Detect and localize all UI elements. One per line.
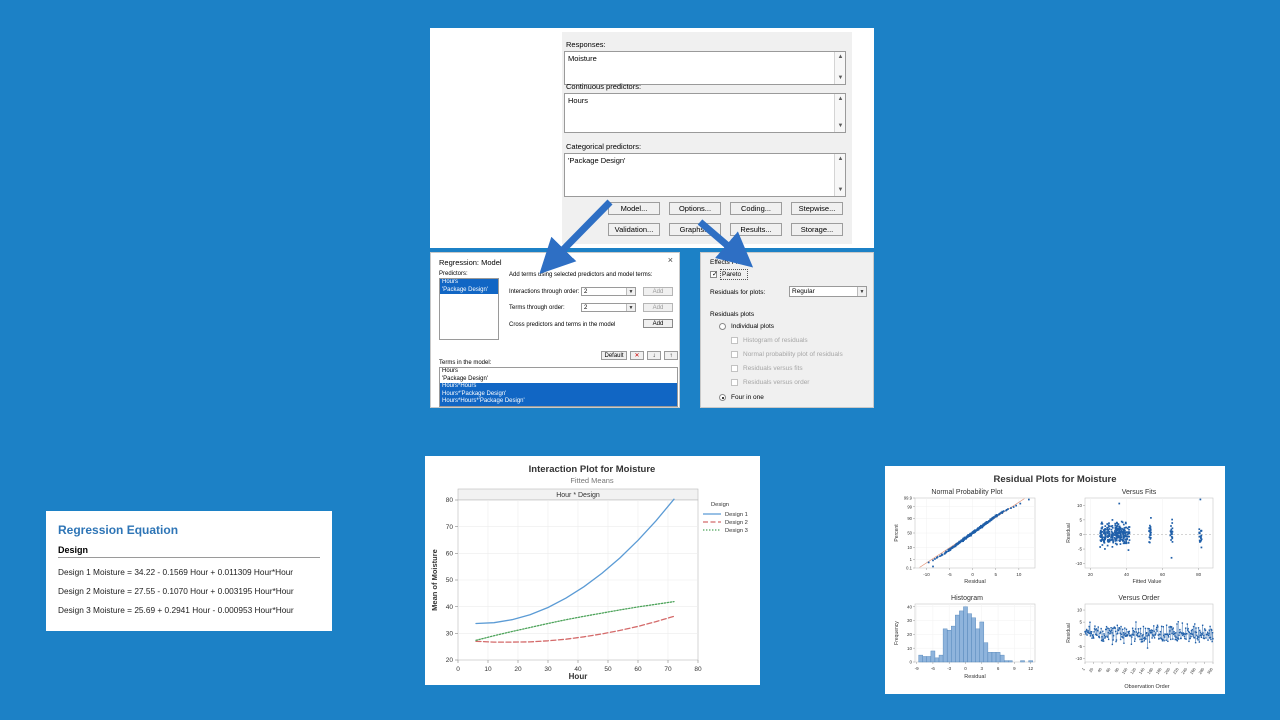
svg-text:-10: -10 [923, 572, 930, 577]
svg-text:1: 1 [910, 557, 913, 562]
chevron-down-icon[interactable]: ▼ [626, 288, 635, 295]
svg-text:99: 99 [907, 504, 912, 509]
residual-plots-svg: Residual Plots for Moisture Normal Proba… [885, 466, 1225, 694]
add-terms-instruction: Add terms using selected predictors and … [509, 272, 652, 278]
svg-text:60: 60 [446, 551, 454, 558]
list-item[interactable]: Hours*Hours [440, 383, 677, 391]
svg-text:40: 40 [907, 604, 913, 609]
residuals-for-plots-label: Residuals for plots: [710, 289, 765, 296]
hist-title: Histogram [951, 595, 983, 602]
continuous-predictors-scrollbar[interactable]: ▲ ▼ [834, 94, 845, 132]
responses-value: Moisture [565, 52, 845, 66]
svg-text:10: 10 [1077, 503, 1083, 508]
svg-text:3: 3 [981, 666, 984, 671]
svg-text:240: 240 [1180, 666, 1188, 675]
svg-text:80: 80 [1113, 666, 1120, 673]
svg-text:70: 70 [664, 666, 672, 673]
hist-x-label: Residual [964, 674, 985, 680]
svg-text:70: 70 [446, 524, 454, 531]
svg-text:20: 20 [446, 657, 454, 664]
categorical-predictors-input[interactable]: 'Package Design' ▲ ▼ [564, 153, 846, 197]
svg-text:220: 220 [1172, 666, 1180, 675]
residuals-plots-title: Residuals plots [710, 311, 754, 318]
svg-text:300: 300 [1206, 666, 1214, 675]
svg-text:6: 6 [997, 666, 1000, 671]
pareto-checkbox[interactable]: ✓ [710, 271, 717, 278]
interaction-plot-card: Interaction Plot for Moisture Fitted Mea… [425, 456, 760, 685]
residual-plots-card: Residual Plots for Moisture Normal Proba… [885, 466, 1225, 694]
residual-plots-title: Residual Plots for Moisture [994, 474, 1117, 485]
vf-y-label: Residual [1066, 523, 1072, 542]
normal-probability-plot-label: Normal probability plot of residuals [743, 351, 843, 358]
dialog-button-row-1: Model... Options... Coding... Stepwise..… [608, 202, 843, 215]
svg-text:5: 5 [1079, 620, 1082, 625]
svg-text:-10: -10 [1075, 561, 1082, 566]
svg-text:160: 160 [1146, 666, 1154, 675]
results-button[interactable]: Results... [730, 223, 782, 236]
svg-text:260: 260 [1189, 666, 1197, 675]
equation-line: Design 3 Moisture = 25.69 + 0.2941 Hour … [58, 605, 320, 615]
individual-plots-radio[interactable] [719, 323, 726, 330]
svg-text:10: 10 [907, 545, 912, 550]
svg-text:Design 3: Design 3 [725, 528, 748, 534]
svg-text:200: 200 [1163, 666, 1171, 675]
versus-order-plot: Versus Order -10-50510120406080100120140… [1066, 595, 1214, 690]
svg-text:10: 10 [1016, 572, 1022, 577]
categorical-predictors-label: Categorical predictors: [566, 142, 846, 151]
move-down-button[interactable]: ↓ [647, 351, 661, 360]
terms-in-model-label: Terms in the model: [439, 360, 491, 366]
four-in-one-radio[interactable] [719, 394, 726, 401]
svg-text:10: 10 [907, 646, 913, 651]
svg-text:80: 80 [694, 666, 702, 673]
delete-term-button[interactable]: ✕ [630, 351, 644, 360]
cross-predictors-label: Cross predictors and terms in the model [509, 322, 615, 328]
svg-text:180: 180 [1155, 666, 1163, 675]
svg-text:9: 9 [1013, 666, 1016, 671]
move-up-button[interactable]: ↑ [664, 351, 678, 360]
vo-y-label: Residual [1066, 623, 1072, 642]
svg-text:0: 0 [1079, 532, 1082, 537]
continuous-predictors-input[interactable]: Hours ▲ ▼ [564, 93, 846, 133]
regression-model-dialog: Regression: Model × Predictors: Hours 'P… [430, 252, 680, 408]
responses-input[interactable]: Moisture ▲ ▼ [564, 51, 846, 85]
equation-line: Design 2 Moisture = 27.55 - 0.1070 Hour … [58, 586, 320, 596]
vo-x-label: Observation Order [1124, 684, 1169, 690]
svg-text:80: 80 [1196, 572, 1202, 577]
list-item[interactable]: Hours [440, 279, 498, 287]
terms-order-label: Terms through order: [509, 305, 565, 311]
scroll-down-icon[interactable]: ▼ [835, 121, 846, 132]
svg-text:12: 12 [1028, 666, 1034, 671]
stepwise-button[interactable]: Stepwise... [791, 202, 843, 215]
svg-text:120: 120 [1129, 666, 1137, 675]
svg-text:280: 280 [1197, 666, 1205, 675]
regression-dialog: Responses: Moisture ▲ ▼ Continuous predi… [430, 28, 874, 248]
scroll-up-icon[interactable]: ▲ [835, 154, 846, 165]
svg-text:40: 40 [446, 604, 454, 611]
hist-y-label: Frequency [894, 621, 900, 645]
continuous-predictors-value: Hours [565, 94, 845, 108]
terms-order-select[interactable]: 2 ▼ [581, 303, 636, 312]
panel-header-label: Hour * Design [556, 492, 600, 499]
equation-line: Design 1 Moisture = 34.22 - 0.1569 Hour … [58, 567, 320, 577]
page-title: Regression Equation [58, 523, 320, 537]
svg-text:-6: -6 [931, 666, 935, 671]
interaction-plot-title: Interaction Plot for Moisture [529, 464, 656, 475]
svg-text:40: 40 [1096, 666, 1103, 673]
terms-order-value: 2 [584, 305, 587, 311]
categorical-predictors-field-group: Categorical predictors: 'Package Design'… [564, 142, 846, 197]
coding-button[interactable]: Coding... [730, 202, 782, 215]
residuals-versus-order-checkbox [731, 379, 738, 386]
svg-text:0: 0 [964, 666, 967, 671]
npp-y-label: Percent [894, 524, 900, 542]
svg-text:140: 140 [1138, 666, 1146, 675]
histogram-of-residuals-label: Histogram of residuals [743, 337, 808, 344]
histogram-plot: Histogram -9-6-3036912010203040 Frequenc… [894, 595, 1035, 680]
y-axis-label: Mean of Moisture [430, 549, 439, 611]
svg-text:-5: -5 [1078, 547, 1082, 552]
svg-text:30: 30 [446, 631, 454, 638]
predictors-list[interactable]: Hours 'Package Design' [439, 278, 499, 340]
residuals-versus-order-label: Residuals versus order [743, 379, 809, 386]
svg-text:100: 100 [1121, 666, 1129, 675]
svg-text:-5: -5 [1078, 644, 1082, 649]
histogram-of-residuals-checkbox [731, 337, 738, 344]
residuals-for-plots-select[interactable]: Regular ▼ [789, 286, 867, 297]
versus-fits-plot: Versus Fits 20406080-10-50510 Residual F… [1066, 489, 1213, 585]
legend-title: Design [711, 502, 729, 508]
svg-text:20: 20 [1088, 666, 1095, 673]
model-button[interactable]: Model... [608, 202, 660, 215]
responses-label: Responses: [566, 40, 846, 49]
storage-button[interactable]: Storage... [791, 223, 843, 236]
svg-text:Design 2: Design 2 [725, 520, 748, 526]
x-axis-label: Hour [569, 672, 588, 681]
responses-field-group: Responses: Moisture ▲ ▼ [564, 40, 846, 85]
normal-probability-plot: Normal Probability Plot -10-505100.11105… [894, 489, 1035, 585]
npp-x-label: Residual [964, 579, 985, 585]
legend: Design 1Design 2Design 3 [703, 512, 748, 534]
svg-text:5: 5 [1079, 517, 1082, 522]
list-item[interactable]: 'Package Design' [440, 376, 677, 384]
svg-text:0: 0 [909, 660, 912, 665]
responses-scrollbar[interactable]: ▲ ▼ [834, 52, 845, 84]
svg-text:40: 40 [1124, 572, 1130, 577]
svg-text:80: 80 [446, 497, 454, 504]
svg-text:-3: -3 [947, 666, 951, 671]
npp-title: Normal Probability Plot [931, 489, 1002, 496]
svg-text:20: 20 [907, 632, 913, 637]
design-group-header: Design [58, 545, 320, 558]
check-icon: ✓ [712, 271, 718, 278]
svg-text:-5: -5 [948, 572, 952, 577]
svg-text:99.9: 99.9 [904, 496, 913, 501]
list-item[interactable]: 'Package Design' [440, 287, 498, 295]
svg-text:20: 20 [1088, 572, 1094, 577]
svg-text:0: 0 [1079, 632, 1082, 637]
list-item[interactable]: Hours*'Package Design' [440, 391, 677, 399]
svg-text:60: 60 [1105, 666, 1112, 673]
residuals-versus-fits-checkbox [731, 365, 738, 372]
svg-text:30: 30 [907, 618, 913, 623]
svg-text:30: 30 [544, 666, 552, 673]
svg-text:10: 10 [484, 666, 492, 673]
interaction-plot-subtitle: Fitted Means [570, 476, 614, 485]
svg-text:20: 20 [514, 666, 522, 673]
svg-text:60: 60 [634, 666, 642, 673]
svg-text:-9: -9 [915, 666, 919, 671]
add-cross-button[interactable]: Add [643, 319, 673, 328]
scroll-down-icon[interactable]: ▼ [835, 185, 846, 196]
list-item[interactable]: Hours [440, 368, 677, 376]
regression-dialog-body: Responses: Moisture ▲ ▼ Continuous predi… [562, 32, 852, 244]
interactions-order-value: 2 [584, 289, 587, 295]
svg-text:0: 0 [456, 666, 460, 673]
svg-text:1: 1 [1080, 666, 1086, 671]
radio-dot-icon [722, 397, 724, 399]
svg-text:-10: -10 [1075, 656, 1082, 661]
effects-plots-panel: Effects Plots ✓ Pareto Residuals for plo… [700, 252, 874, 408]
close-icon[interactable]: × [668, 256, 673, 265]
residuals-versus-fits-label: Residuals versus fits [743, 365, 803, 372]
continuous-predictors-field-group: Continuous predictors: Hours ▲ ▼ [564, 82, 846, 133]
svg-text:10: 10 [1077, 608, 1083, 613]
scroll-up-icon[interactable]: ▲ [835, 52, 846, 63]
svg-text:5: 5 [995, 572, 998, 577]
list-item[interactable]: Hours*Hours*'Package Design' [440, 398, 677, 406]
pareto-label: Pareto [722, 271, 741, 278]
continuous-predictors-label: Continuous predictors: [566, 82, 846, 91]
dialog-button-row-2: Validation... Graphs... Results... Stora… [608, 223, 843, 236]
add-terms-button[interactable]: Add [643, 303, 673, 312]
effects-plots-title: Effects Plots [710, 259, 746, 266]
svg-text:50: 50 [604, 666, 612, 673]
svg-text:50: 50 [446, 577, 454, 584]
add-interactions-button[interactable]: Add [643, 287, 673, 296]
svg-text:Design 1: Design 1 [725, 512, 748, 518]
scroll-up-icon[interactable]: ▲ [835, 94, 846, 105]
chevron-down-icon[interactable]: ▼ [857, 287, 866, 296]
options-button[interactable]: Options... [669, 202, 721, 215]
svg-text:50: 50 [907, 531, 912, 536]
chevron-down-icon[interactable]: ▼ [626, 304, 635, 311]
predictors-label: Predictors: [439, 271, 468, 277]
svg-text:60: 60 [1160, 572, 1166, 577]
vf-title: Versus Fits [1122, 489, 1157, 496]
vf-x-label: Fitted Value [1133, 579, 1162, 585]
interactions-order-label: Interactions through order: [509, 289, 579, 295]
residuals-for-plots-value: Regular [792, 288, 815, 295]
interaction-plot-svg: Interaction Plot for Moisture Fitted Mea… [425, 456, 760, 685]
svg-text:90: 90 [907, 516, 912, 521]
interactions-order-select[interactable]: 2 ▼ [581, 287, 636, 296]
validation-button[interactable]: Validation... [608, 223, 660, 236]
model-dialog-title: Regression: Model [439, 258, 502, 267]
default-button[interactable]: Default [601, 351, 627, 360]
individual-plots-label: Individual plots [731, 323, 774, 330]
svg-text:0: 0 [971, 572, 974, 577]
terms-in-model-list[interactable]: Hours 'Package Design' Hours*Hours Hours… [439, 367, 678, 407]
four-in-one-label: Four in one [731, 394, 764, 401]
svg-text:0.1: 0.1 [906, 566, 912, 571]
graphs-button[interactable]: Graphs... [669, 223, 721, 236]
categorical-predictors-value: 'Package Design' [565, 154, 845, 168]
regression-equation-card: Regression Equation Design Design 1 Mois… [42, 511, 332, 631]
categorical-predictors-scrollbar[interactable]: ▲ ▼ [834, 154, 845, 196]
vo-title: Versus Order [1118, 595, 1160, 602]
normal-probability-plot-checkbox [731, 351, 738, 358]
